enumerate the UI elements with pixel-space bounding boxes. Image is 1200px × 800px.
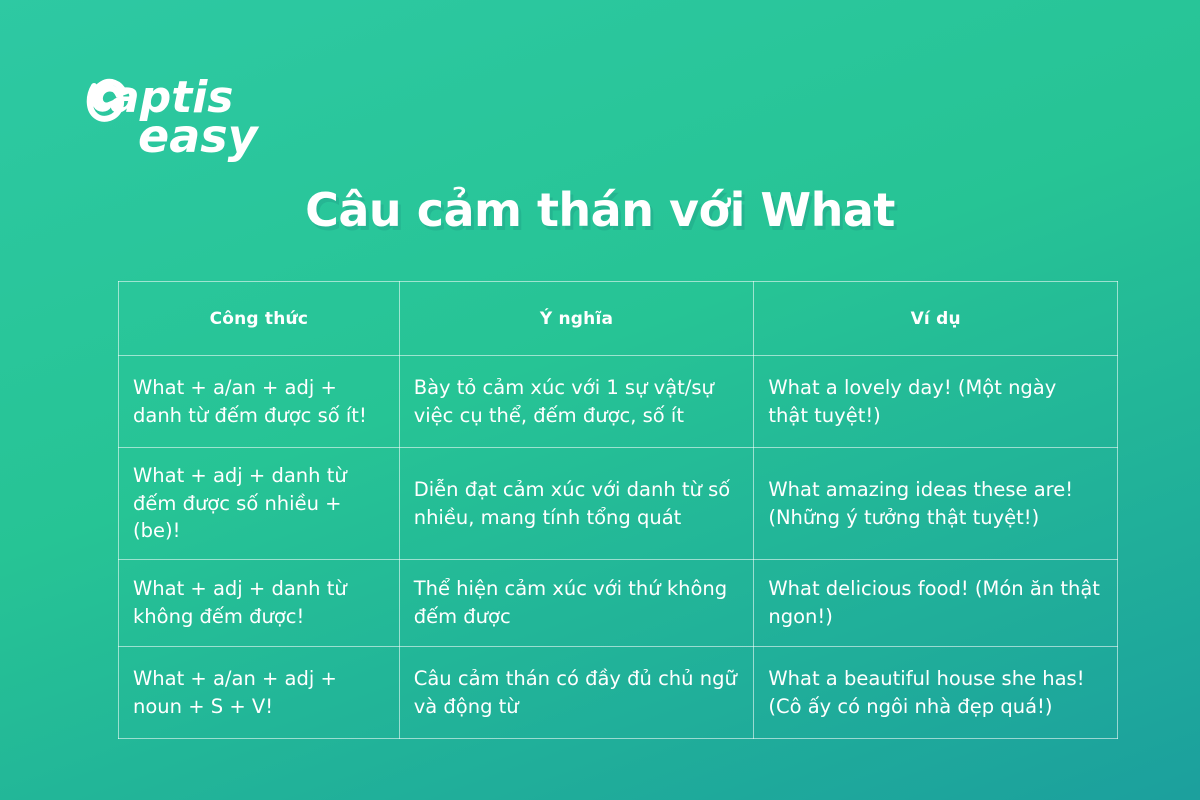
- table-row: What + a/an + adj + noun + S + V! Câu cả…: [119, 647, 1118, 739]
- table-row: What + a/an + adj + danh từ đếm được số …: [119, 356, 1118, 448]
- cell-example: What a beautiful house she has! (Cô ấy c…: [754, 647, 1118, 739]
- cell-example: What a lovely day! (Một ngày thật tuyệt!…: [754, 356, 1118, 448]
- table-header-row: Công thức Ý nghĩa Ví dụ: [119, 282, 1118, 356]
- cell-formula: What + a/an + adj + danh từ đếm được số …: [119, 356, 400, 448]
- column-header-meaning: Ý nghĩa: [399, 282, 754, 356]
- column-header-formula: Công thức: [119, 282, 400, 356]
- cell-formula: What + adj + danh từ không đếm được!: [119, 560, 400, 647]
- brand-logo: aptis easy: [86, 58, 316, 163]
- cell-example: What amazing ideas these are! (Những ý t…: [754, 448, 1118, 560]
- table-row: What + adj + danh từ không đếm được! Thể…: [119, 560, 1118, 647]
- cell-formula: What + adj + danh từ đếm được số nhiều +…: [119, 448, 400, 560]
- cell-meaning: Diễn đạt cảm xúc với danh từ số nhiều, m…: [399, 448, 754, 560]
- cell-example: What delicious food! (Món ăn thật ngon!): [754, 560, 1118, 647]
- page-title: Câu cảm thán với What: [0, 183, 1200, 237]
- formula-table-container: Công thức Ý nghĩa Ví dụ What + a/an + ad…: [118, 281, 1118, 739]
- table-row: What + adj + danh từ đếm được số nhiều +…: [119, 448, 1118, 560]
- brand-logo-icon: aptis easy: [86, 58, 316, 163]
- column-header-example: Ví dụ: [754, 282, 1118, 356]
- cell-meaning: Câu cảm thán có đầy đủ chủ ngữ và động t…: [399, 647, 754, 739]
- formula-table: Công thức Ý nghĩa Ví dụ What + a/an + ad…: [118, 281, 1118, 739]
- cell-meaning: Thể hiện cảm xúc với thứ không đếm được: [399, 560, 754, 647]
- cell-formula: What + a/an + adj + noun + S + V!: [119, 647, 400, 739]
- infographic-canvas: aptis easy Câu cảm thán với What Công th…: [0, 0, 1200, 800]
- brand-logo-line2: easy: [138, 109, 260, 163]
- cell-meaning: Bày tỏ cảm xúc với 1 sự vật/sự việc cụ t…: [399, 356, 754, 448]
